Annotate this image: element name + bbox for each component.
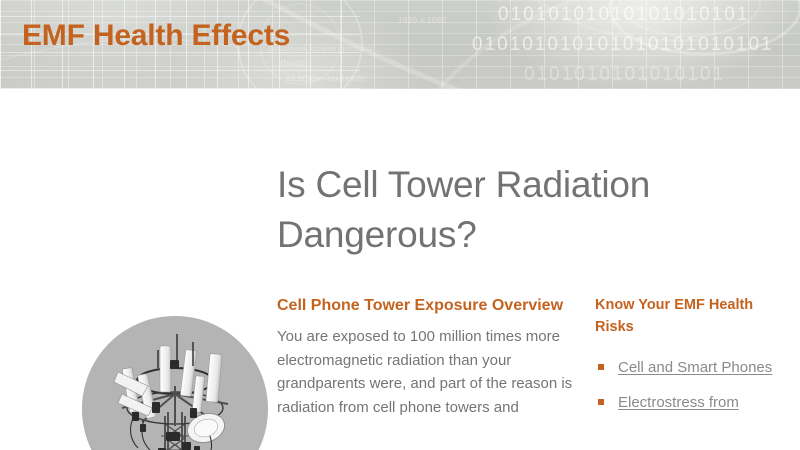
sidebar-heading: Know Your EMF Health Risks (595, 294, 795, 338)
cell-tower-illustration (82, 316, 268, 450)
article-heading: Cell Phone Tower Exposure Overview (277, 294, 573, 317)
related-links-sidebar: Know Your EMF Health Risks Cell and Smar… (595, 294, 795, 424)
page-root: 01010101010101010101 0101010101010101010… (0, 0, 800, 450)
list-item: Electrostress from (595, 389, 795, 417)
sidebar-link-list: Cell and Smart Phones Electrostress from (595, 354, 795, 417)
page-title: Is Cell Tower Radiation Dangerous? (277, 160, 717, 260)
article-column: Cell Phone Tower Exposure Overview You a… (277, 294, 573, 419)
header-ghost-text: 1920 x 1080 (398, 16, 446, 25)
cell-tower-image (82, 316, 268, 450)
list-item: Cell and Smart Phones (595, 354, 795, 382)
binary-row: 0101010101010101 (470, 60, 800, 89)
header-binary-pattern: 01010101010101010101 0101010101010101010… (470, 0, 800, 89)
site-title: EMF Health Effects (22, 17, 290, 55)
square-bullet-icon (598, 399, 604, 405)
square-bullet-icon (598, 364, 604, 370)
binary-row: 010101010101010101010101 (470, 30, 800, 60)
article-body: You are exposed to 100 million times mor… (277, 325, 573, 419)
header-ghost-text: xd.b(type=text/xml)); (286, 74, 367, 83)
sidebar-link-electrostress-from[interactable]: Electrostress from (618, 394, 739, 411)
binary-row: 01010101010101010101 (470, 0, 800, 30)
header-ghost-text: (bool); (280, 58, 308, 68)
site-header: 01010101010101010101 0101010101010101010… (0, 0, 800, 89)
sidebar-link-cell-and-smart-phones[interactable]: Cell and Smart Phones (618, 359, 772, 376)
